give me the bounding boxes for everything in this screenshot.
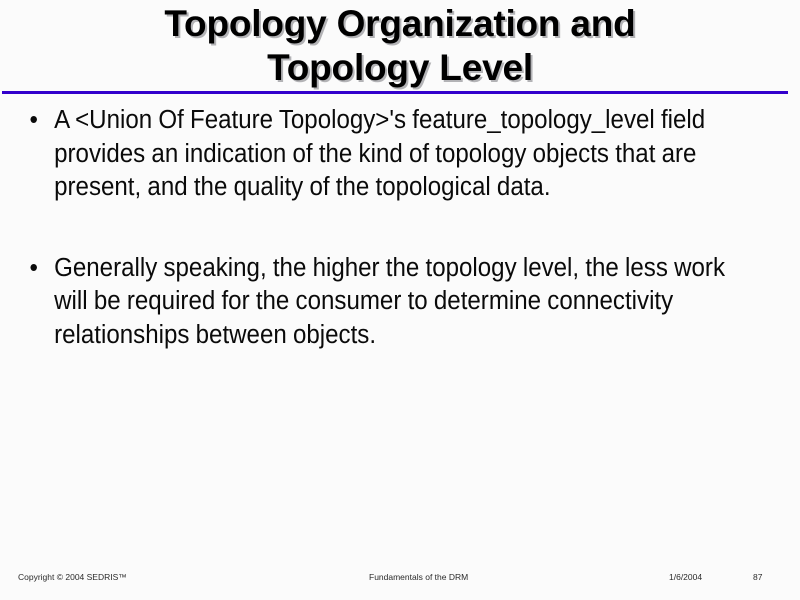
bullet-text: A <Union Of Feature Topology>'s feature_… — [54, 104, 736, 205]
bullet-list-item: • Generally speaking, the higher the top… — [22, 252, 736, 353]
footer-copyright: Copyright © 2004 SEDRIS™ — [18, 571, 127, 583]
slide-title: Topology Organization and Topology Level — [0, 2, 800, 90]
bullet-text: Generally speaking, the higher the topol… — [54, 252, 736, 353]
footer-page-number: 87 — [753, 571, 762, 583]
title-divider-rule — [2, 91, 788, 94]
slide-footer: Copyright © 2004 SEDRIS™ Fundamentals of… — [0, 571, 800, 585]
bullet-marker-icon: • — [30, 252, 38, 286]
footer-presentation-title: Fundamentals of the DRM — [369, 571, 468, 583]
slide-body: • A <Union Of Feature Topology>'s featur… — [22, 104, 778, 352]
bullet-list-item: • A <Union Of Feature Topology>'s featur… — [22, 104, 736, 205]
slide-canvas: Topology Organization and Topology Level… — [0, 0, 800, 600]
footer-date: 1/6/2004 — [669, 571, 702, 583]
bullet-marker-icon: • — [30, 104, 38, 138]
slide-title-line-1: Topology Organization and — [0, 2, 800, 46]
slide-title-line-2: Topology Level — [0, 46, 800, 90]
